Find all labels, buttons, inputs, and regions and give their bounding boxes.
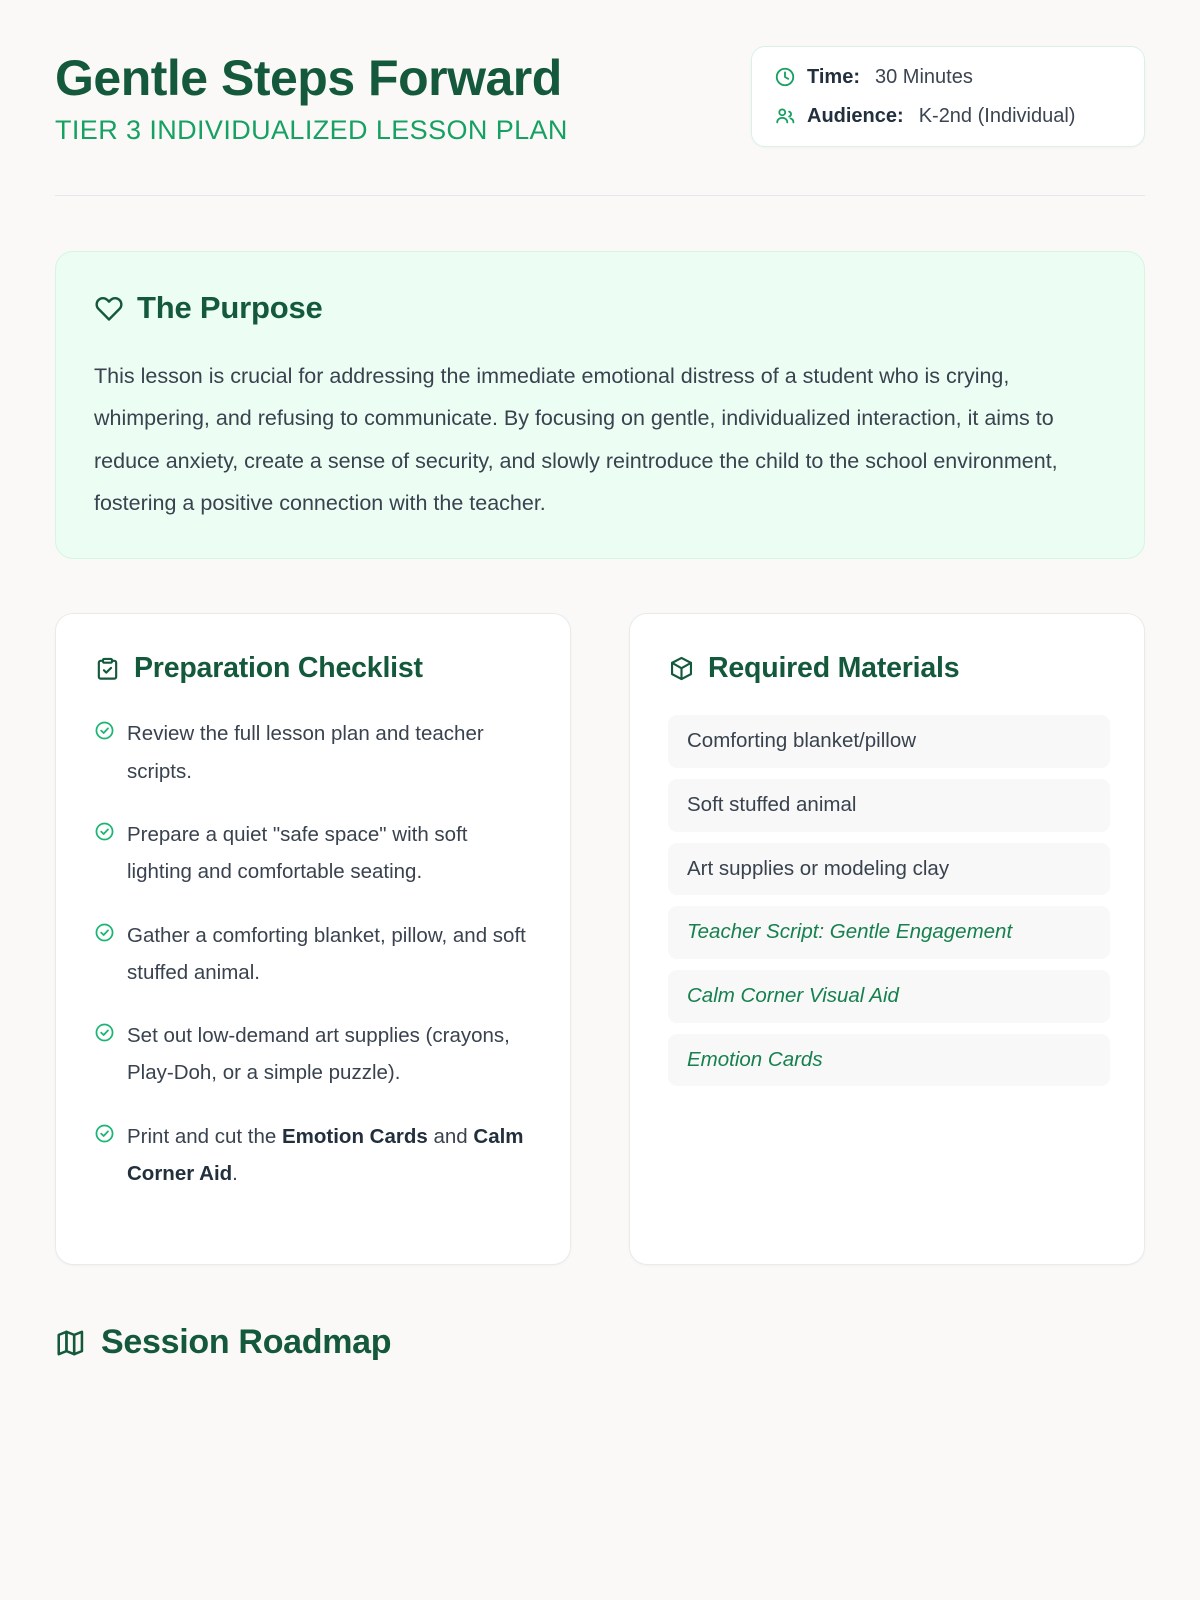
list-item-reference[interactable]: Teacher Script: Gentle Engagement [668,906,1110,959]
check-circle-icon [94,1022,115,1043]
check-circle-icon [94,821,115,842]
list-item: Prepare a quiet "safe space" with soft l… [94,816,536,891]
meta-row-time: Time: 30 Minutes [774,66,1118,88]
package-icon [668,655,695,682]
materials-items: Comforting blanket/pillow Soft stuffed a… [668,715,1110,1086]
audience-value: K-2nd (Individual) [919,106,1076,126]
audience-label: Audience: [807,106,904,126]
check-circle-icon [94,720,115,741]
title-block: Gentle Steps Forward TIER 3 INDIVIDUALIZ… [55,46,568,146]
check-circle-icon [94,922,115,943]
heart-icon [94,293,124,323]
page-title: Gentle Steps Forward [55,50,568,106]
preparation-heading: Preparation Checklist [94,652,536,685]
users-icon [774,105,796,127]
preparation-checklist-card: Preparation Checklist Review the full le… [55,613,571,1265]
preparation-items: Review the full lesson plan and teacher … [94,715,536,1192]
list-item-reference[interactable]: Calm Corner Visual Aid [668,970,1110,1023]
meta-row-audience: Audience: K-2nd (Individual) [774,105,1118,127]
list-item-reference[interactable]: Emotion Cards [668,1034,1110,1087]
time-value: 30 Minutes [875,67,973,87]
materials-heading: Required Materials [668,652,1110,685]
cards-row: Preparation Checklist Review the full le… [55,613,1145,1265]
clipboard-check-icon [94,655,121,682]
checklist-item-text: Set out low-demand art supplies (crayons… [127,1017,536,1092]
required-materials-card: Required Materials Comforting blanket/pi… [629,613,1145,1265]
checklist-item-text: Print and cut the Emotion Cards and Calm… [127,1118,536,1193]
lesson-plan-page: Gentle Steps Forward TIER 3 INDIVIDUALIZ… [0,0,1200,1600]
purpose-heading-label: The Purpose [137,290,323,326]
list-item: Art supplies or modeling clay [668,843,1110,896]
session-roadmap-label: Session Roadmap [101,1323,391,1362]
time-label: Time: [807,67,860,87]
materials-heading-label: Required Materials [708,652,959,685]
purpose-body: This lesson is crucial for addressing th… [94,355,1084,524]
checklist-item-text: Gather a comforting blanket, pillow, and… [127,917,536,992]
map-icon [55,1327,87,1359]
list-item: Set out low-demand art supplies (crayons… [94,1017,536,1092]
clock-icon [774,66,796,88]
list-item: Gather a comforting blanket, pillow, and… [94,917,536,992]
checklist-item-text: Review the full lesson plan and teacher … [127,715,536,790]
header-divider [55,195,1145,196]
checklist-item-text: Prepare a quiet "safe space" with soft l… [127,816,536,891]
list-item: Soft stuffed animal [668,779,1110,832]
preparation-heading-label: Preparation Checklist [134,652,423,685]
check-circle-icon [94,1123,115,1144]
list-item: Comforting blanket/pillow [668,715,1110,768]
page-header: Gentle Steps Forward TIER 3 INDIVIDUALIZ… [55,0,1145,147]
purpose-heading: The Purpose [94,290,1106,326]
list-item: Print and cut the Emotion Cards and Calm… [94,1118,536,1193]
lesson-meta-box: Time: 30 Minutes Audience: K-2nd (Indivi… [751,46,1145,147]
list-item: Review the full lesson plan and teacher … [94,715,536,790]
purpose-card: The Purpose This lesson is crucial for a… [55,251,1145,559]
session-roadmap-heading: Session Roadmap [55,1323,1145,1362]
page-subtitle: TIER 3 INDIVIDUALIZED LESSON PLAN [55,115,568,146]
